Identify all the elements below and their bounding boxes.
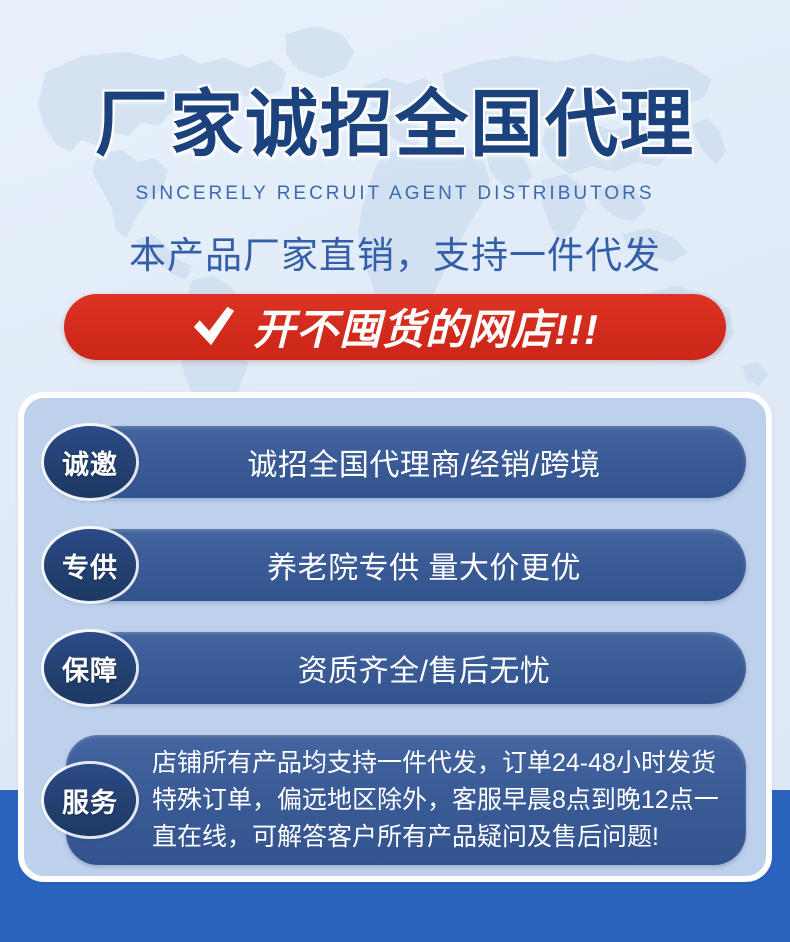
feature-text-exclusive: 养老院专供 量大价更优: [136, 543, 746, 587]
badge-invite: 诚邀: [44, 426, 136, 498]
badge-label: 保障: [62, 649, 118, 688]
badge-label: 专供: [62, 546, 118, 585]
feature-text-service: 店铺所有产品均支持一件代发，订单24-48小时发货 特殊订单，偏远地区除外，客服…: [136, 745, 746, 856]
check-icon: [191, 304, 237, 350]
feature-row-invite: 诚邀 诚招全国代理商/经销/跨境: [44, 426, 746, 498]
service-line-3: 直在线，可解答客户所有产品疑问及售后问题!: [152, 819, 724, 856]
features-list: 诚邀 诚招全国代理商/经销/跨境 专供 养老院专供 量大价更优 保障 资质齐全/…: [24, 398, 766, 876]
feature-row-service: 服务 店铺所有产品均支持一件代发，订单24-48小时发货 特殊订单，偏远地区除外…: [44, 735, 746, 865]
service-line-2: 特殊订单，偏远地区除外，客服早晨8点到晚12点一: [152, 782, 724, 819]
headline-block: 厂家诚招全国代理 SINCERELY RECRUIT AGENT DISTRIB…: [0, 0, 790, 279]
service-line-1: 店铺所有产品均支持一件代发，订单24-48小时发货: [152, 745, 724, 782]
promo-poster: 厂家诚招全国代理 SINCERELY RECRUIT AGENT DISTRIB…: [0, 0, 790, 942]
features-panel: 诚邀 诚招全国代理商/经销/跨境 专供 养老院专供 量大价更优 保障 资质齐全/…: [18, 392, 772, 882]
badge-exclusive: 专供: [44, 529, 136, 601]
badge-guarantee: 保障: [44, 632, 136, 704]
red-banner-text: 开不囤货的网店!!!: [253, 296, 599, 357]
badge-label: 诚邀: [62, 443, 118, 482]
feature-text-guarantee: 资质齐全/售后无忧: [136, 646, 746, 690]
page-title: 厂家诚招全国代理: [0, 0, 790, 161]
feature-row-exclusive: 专供 养老院专供 量大价更优: [44, 529, 746, 601]
feature-row-guarantee: 保障 资质齐全/售后无忧: [44, 632, 746, 704]
badge-service: 服务: [44, 764, 136, 836]
red-highlight-banner: 开不囤货的网店!!!: [64, 294, 726, 360]
badge-label: 服务: [62, 781, 118, 820]
feature-text-invite: 诚招全国代理商/经销/跨境: [136, 440, 746, 484]
subtitle-english: SINCERELY RECRUIT AGENT DISTRIBUTORS: [0, 161, 790, 205]
subtitle-chinese: 本产品厂家直销，支持一件代发: [0, 205, 790, 279]
